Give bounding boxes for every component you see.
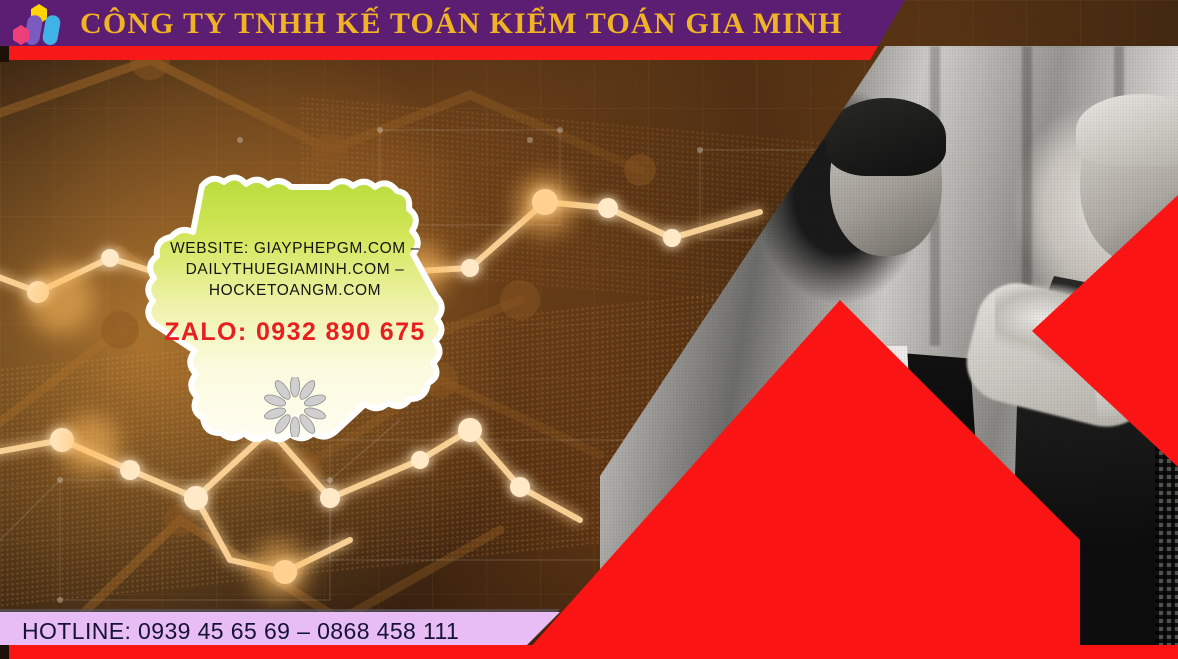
page-title: CÔNG TY TNHH KẾ TOÁN KIỂM TOÁN GIA MINH	[80, 3, 843, 45]
flower-rosette-ornament-icon	[262, 377, 328, 437]
badge-zalo-number[interactable]: ZALO: 0932 890 675	[164, 318, 425, 347]
gia-minh-logo[interactable]	[8, 2, 70, 46]
badge-website-line-1: WEBSITE: GIAYPHEPGM.COM –	[159, 238, 431, 259]
header-left-notch	[0, 46, 9, 62]
banner-canvas: CÔNG TY TNHH KẾ TOÁN KIỂM TOÁN GIA MINH …	[0, 0, 1178, 659]
badge-website-line-2: DAILYTHUEGIAMINH.COM –	[159, 259, 431, 280]
badge-website-line-3: HOCKETOANGM.COM	[159, 280, 431, 301]
footer-red-stripe	[8, 645, 1178, 659]
contact-badge: WEBSITE: GIAYPHEPGM.COM – DAILYTHUEGIAMI…	[140, 172, 450, 450]
hotline-text[interactable]: HOTLINE: 0939 45 65 69 – 0868 458 111	[0, 618, 459, 645]
hotline-top-divider	[0, 609, 560, 612]
footer-left-notch	[0, 645, 9, 659]
